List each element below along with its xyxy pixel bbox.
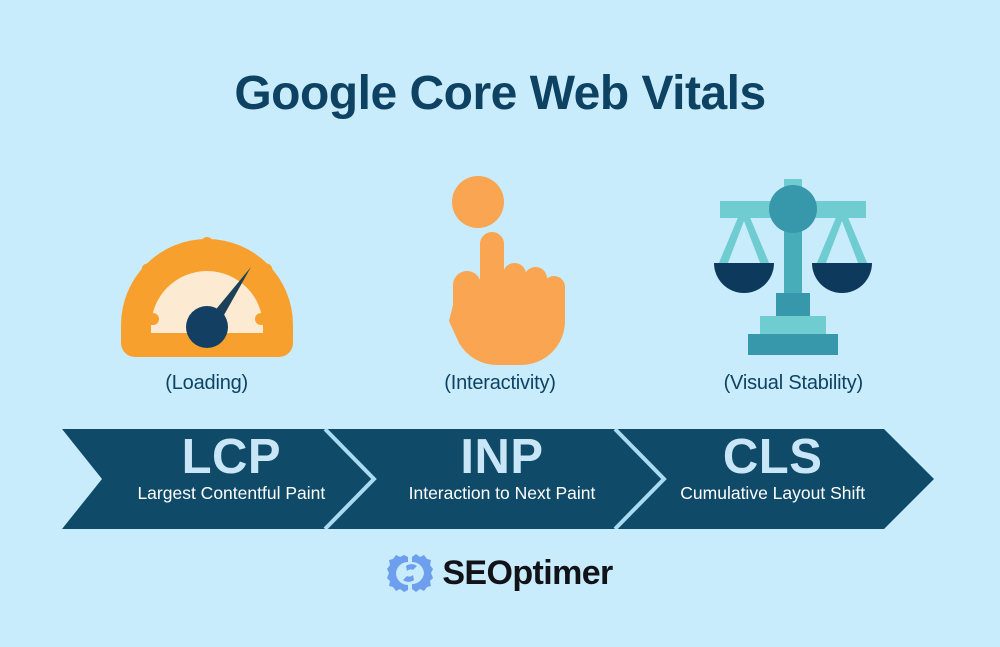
caption-interactivity: (Interactivity): [355, 372, 645, 402]
speedometer-icon: [117, 175, 297, 365]
caption-loading: (Loading): [62, 372, 352, 402]
metric-name-inp: Interaction to Next Paint: [409, 484, 596, 503]
brand-logo: SEOptimer: [0, 549, 1000, 597]
metric-lcp: LCP Largest Contentful Paint: [62, 429, 367, 529]
metric-name-lcp: Largest Contentful Paint: [137, 484, 325, 503]
caption-row: (Loading) (Interactivity) (Visual Stabil…: [60, 372, 940, 402]
icon-row: [60, 165, 940, 365]
page-title: Google Core Web Vitals: [0, 68, 1000, 121]
infographic-canvas: Google Core Web Vitals: [0, 0, 1000, 647]
seoptimer-gear-logo-icon: [387, 552, 433, 594]
icon-cell-visual-stability: [648, 165, 938, 365]
icon-cell-interactivity: [355, 165, 645, 365]
metric-abbr-inp: INP: [460, 432, 543, 483]
metric-cls: CLS Cumulative Layout Shift: [637, 429, 934, 529]
metric-abbr-lcp: LCP: [182, 432, 282, 483]
logo-text: SEOptimer: [442, 556, 612, 590]
caption-visual-stability: (Visual Stability): [648, 372, 938, 402]
icon-cell-loading: [62, 165, 352, 365]
metric-name-cls: Cumulative Layout Shift: [680, 484, 865, 503]
metric-inp: INP Interaction to Next Paint: [367, 429, 638, 529]
metrics-banner: LCP Largest Contentful Paint INP Interac…: [62, 429, 934, 529]
balance-scales-icon: [698, 175, 888, 365]
pointing-hand-icon: [425, 175, 575, 365]
metric-abbr-cls: CLS: [723, 432, 823, 483]
banner-labels: LCP Largest Contentful Paint INP Interac…: [62, 429, 934, 529]
